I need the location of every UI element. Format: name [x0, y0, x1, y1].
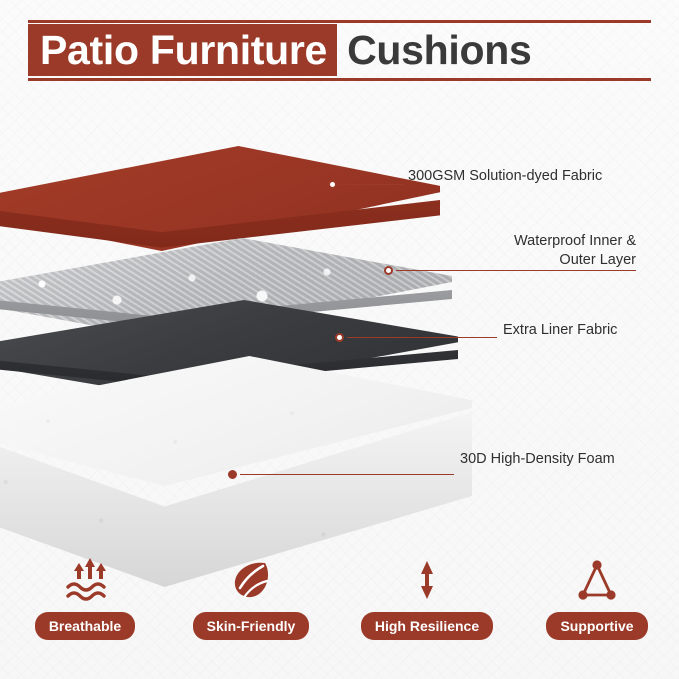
callout-marker-liner-icon [335, 333, 344, 342]
callout-leader-waterproof [396, 270, 636, 271]
feature-breathable-label: Breathable [35, 612, 135, 640]
up-down-arrows-icon [399, 552, 455, 608]
callout-leader-foam [240, 474, 454, 475]
feature-skin-friendly: Skin-Friendly [166, 552, 336, 662]
callout-label-waterproof: Waterproof Inner & Outer Layer [406, 232, 636, 270]
title-rule-top [28, 20, 651, 23]
page-title-plain: Cushions [337, 24, 531, 76]
page-title: Patio Furniture Cushions [28, 24, 531, 76]
callout-marker-fabric-icon [328, 180, 337, 189]
feature-high-resilience-label: High Resilience [361, 612, 493, 640]
callout-label-liner: Extra Liner Fabric [503, 321, 617, 340]
exploded-layer-diagram: 300GSM Solution-dyed Fabric Waterproof I… [0, 88, 679, 548]
callout-leader-fabric [340, 184, 404, 185]
feature-skin-friendly-label: Skin-Friendly [193, 612, 310, 640]
feather-icon [223, 552, 279, 608]
callout-marker-foam-icon [228, 470, 237, 479]
feature-badges: Breathable Skin-Friendly [0, 552, 679, 672]
page-title-highlight: Patio Furniture [28, 24, 337, 76]
feature-breathable: Breathable [0, 552, 170, 662]
header: Patio Furniture Cushions [0, 0, 679, 88]
callout-label-foam: 30D High-Density Foam [460, 450, 615, 469]
callout-marker-waterproof-icon [384, 266, 393, 275]
breathable-airflow-icon [57, 552, 113, 608]
feature-supportive-label: Supportive [546, 612, 647, 640]
triangle-nodes-icon [569, 552, 625, 608]
callout-leader-liner [347, 337, 497, 338]
title-rule-bottom [28, 78, 651, 81]
feature-high-resilience: High Resilience [342, 552, 512, 662]
feature-supportive: Supportive [512, 552, 679, 662]
callout-label-fabric: 300GSM Solution-dyed Fabric [408, 167, 602, 186]
product-infographic: Patio Furniture Cushions 300GSM Solution… [0, 0, 679, 679]
